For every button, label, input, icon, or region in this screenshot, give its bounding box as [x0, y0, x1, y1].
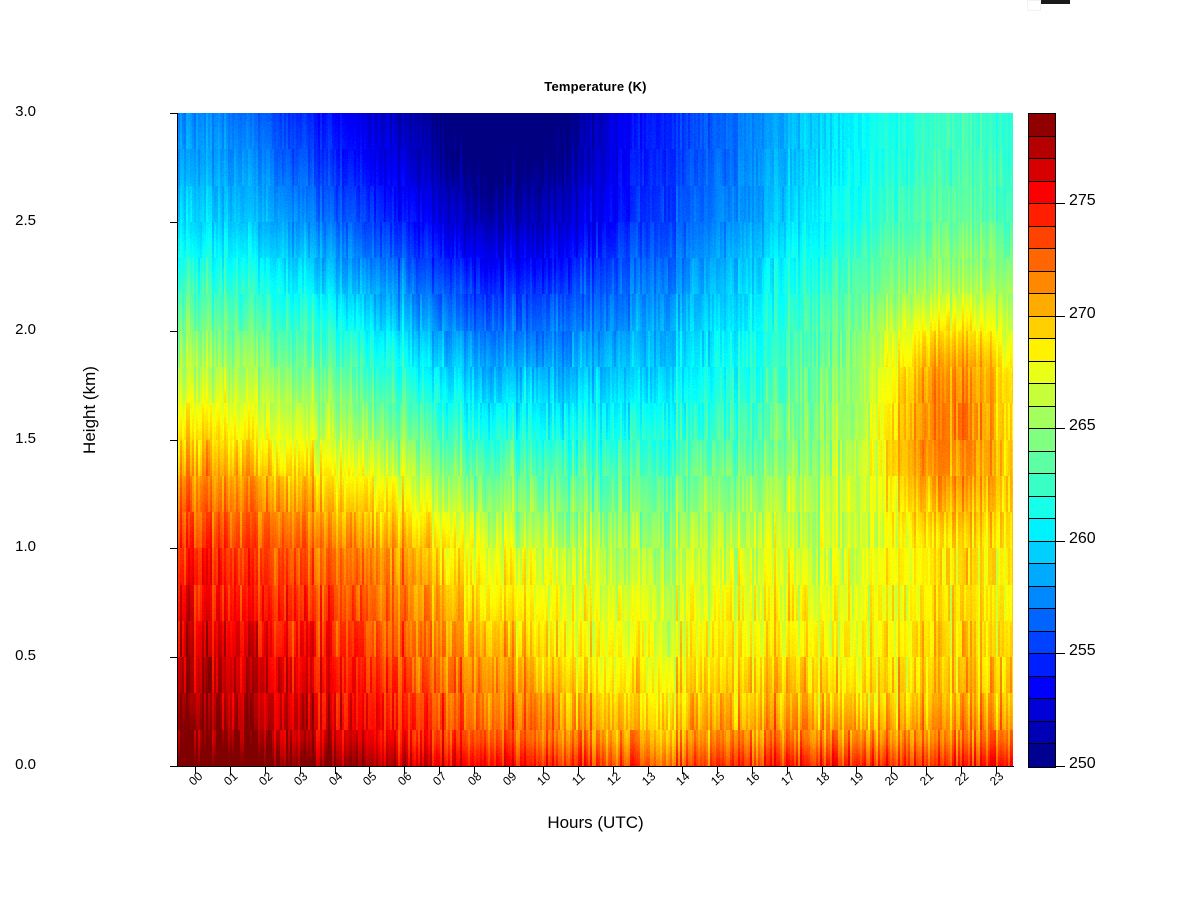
x-tick-label: 04	[326, 769, 345, 788]
x-tick-label: 00	[186, 769, 205, 788]
y-tick-label: 1.0	[15, 538, 36, 555]
colorbar-tick-mark	[1056, 428, 1065, 429]
colorbar-band	[1029, 272, 1055, 295]
y-tick-label: 0.5	[15, 647, 36, 664]
colorbar-band	[1029, 249, 1055, 272]
temperature-heatmap	[178, 113, 1013, 766]
y-tick-mark	[170, 766, 177, 767]
x-tick-label: 16	[743, 769, 762, 788]
colorbar	[1028, 113, 1056, 768]
y-tick-mark	[170, 113, 177, 114]
colorbar-tick-mark	[1056, 203, 1065, 204]
x-tick-label: 23	[987, 769, 1006, 788]
colorbar-band	[1029, 452, 1055, 475]
x-tick-label: 18	[813, 769, 832, 788]
colorbar-band	[1029, 204, 1055, 227]
x-tick-label: 02	[256, 769, 275, 788]
x-tick-label: 06	[395, 769, 414, 788]
clipped-top-artifact-box	[1027, 0, 1041, 11]
x-tick-label: 13	[639, 769, 658, 788]
y-tick-label: 2.0	[15, 321, 36, 338]
colorbar-tick-label: 260	[1069, 530, 1096, 548]
colorbar-band	[1029, 182, 1055, 205]
colorbar-tick-label: 250	[1069, 755, 1096, 773]
colorbar-band	[1029, 474, 1055, 497]
colorbar-band	[1029, 407, 1055, 430]
colorbar-band	[1029, 699, 1055, 722]
colorbar-band	[1029, 677, 1055, 700]
x-tick-label: 03	[291, 769, 310, 788]
figure-canvas: Temperature (K) 0.00.51.01.52.02.53.0 00…	[0, 0, 1200, 900]
y-tick-mark	[170, 222, 177, 223]
x-tick-label: 22	[952, 769, 971, 788]
colorbar-tick-mark	[1056, 541, 1065, 542]
colorbar-band	[1029, 339, 1055, 362]
y-tick-label: 0.0	[15, 756, 36, 773]
x-tick-label: 08	[465, 769, 484, 788]
colorbar-band	[1029, 497, 1055, 520]
colorbar-tick-label: 255	[1069, 642, 1096, 660]
x-tick-label: 19	[847, 769, 866, 788]
x-tick-label: 07	[430, 769, 449, 788]
x-tick-label: 10	[534, 769, 553, 788]
heatmap-panel	[178, 113, 1013, 766]
x-tick-label: 05	[360, 769, 379, 788]
x-tick-label: 17	[778, 769, 797, 788]
colorbar-tick-label: 265	[1069, 417, 1096, 435]
y-axis-line	[177, 113, 178, 767]
colorbar-band	[1029, 632, 1055, 655]
colorbar-band	[1029, 137, 1055, 160]
colorbar-tick-mark	[1056, 766, 1065, 767]
x-tick-label: 20	[882, 769, 901, 788]
y-tick-label: 1.5	[15, 430, 36, 447]
y-tick-mark	[170, 657, 177, 658]
colorbar-band	[1029, 564, 1055, 587]
colorbar-tick-mark	[1056, 316, 1065, 317]
colorbar-band	[1029, 159, 1055, 182]
x-axis-line	[178, 766, 1014, 767]
x-axis-title: Hours (UTC)	[178, 813, 1013, 833]
colorbar-tick-label: 275	[1069, 192, 1096, 210]
colorbar-band	[1029, 227, 1055, 250]
colorbar-band	[1029, 744, 1055, 767]
y-tick-mark	[170, 331, 177, 332]
y-tick-label: 2.5	[15, 212, 36, 229]
x-tick-label: 11	[569, 770, 588, 789]
colorbar-band	[1029, 114, 1055, 137]
y-tick-mark	[170, 440, 177, 441]
x-tick-label: 21	[917, 769, 936, 788]
x-tick-label: 09	[500, 769, 519, 788]
y-axis-title: Height (km)	[80, 310, 100, 510]
colorbar-band	[1029, 317, 1055, 340]
x-tick-label: 15	[708, 769, 727, 788]
colorbar-band	[1029, 294, 1055, 317]
colorbar-band	[1029, 519, 1055, 542]
colorbar-band	[1029, 384, 1055, 407]
x-tick-label: 01	[221, 769, 240, 788]
colorbar-band	[1029, 654, 1055, 677]
y-tick-label: 3.0	[15, 103, 36, 120]
colorbar-band	[1029, 587, 1055, 610]
colorbar-tick-mark	[1056, 653, 1065, 654]
colorbar-band	[1029, 362, 1055, 385]
colorbar-band	[1029, 542, 1055, 565]
colorbar-band	[1029, 722, 1055, 745]
colorbar-band	[1029, 609, 1055, 632]
y-tick-mark	[170, 548, 177, 549]
page-title: Temperature (K)	[178, 79, 1013, 94]
x-tick-label: 14	[673, 769, 692, 788]
x-tick-label: 12	[604, 769, 623, 788]
colorbar-band	[1029, 429, 1055, 452]
colorbar-tick-label: 270	[1069, 305, 1096, 323]
